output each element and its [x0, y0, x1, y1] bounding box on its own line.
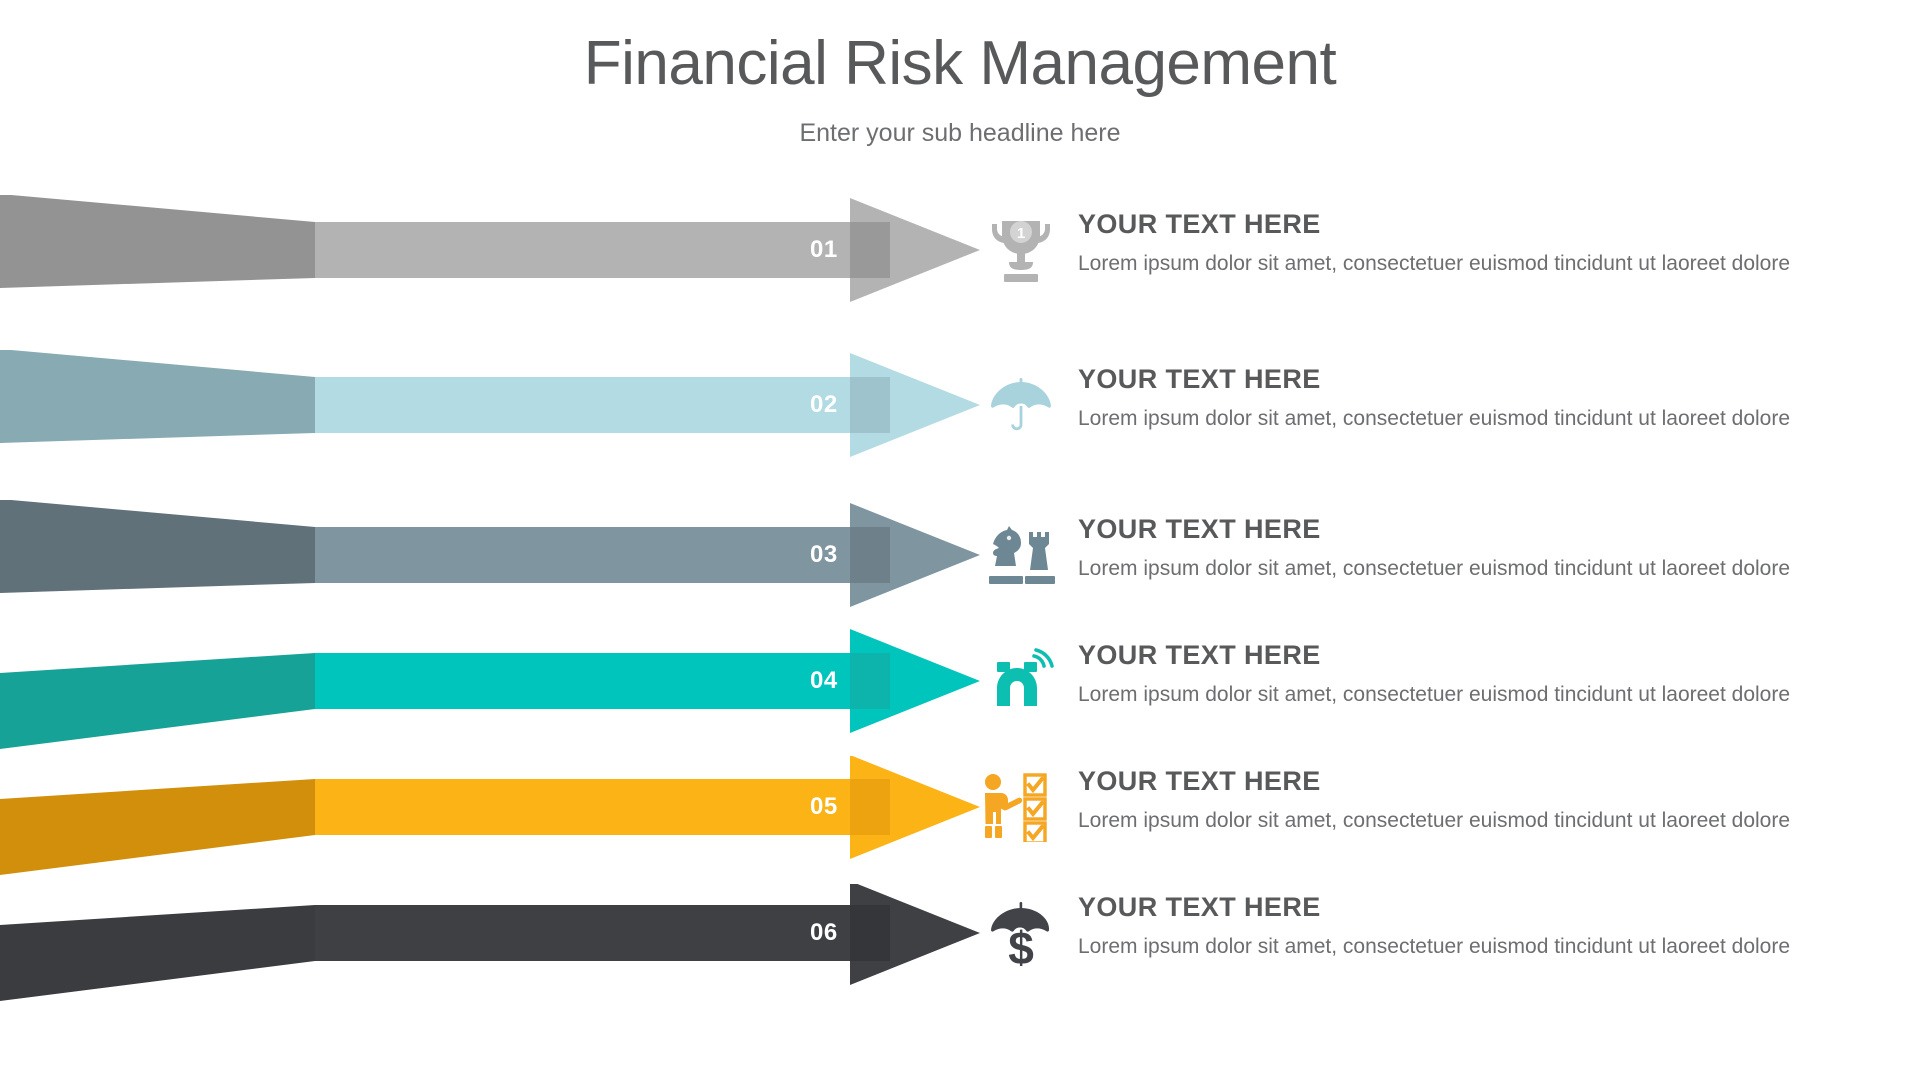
arrow-tail [0, 653, 315, 749]
arrow-graphic[interactable] [0, 884, 980, 1044]
arrow-bar [315, 653, 890, 709]
row-text: YOUR TEXT HERE Lorem ipsum dolor sit ame… [1078, 210, 1908, 276]
arrow-bar [315, 222, 890, 278]
item-title: YOUR TEXT HERE [1078, 365, 1908, 395]
arrow-bar [315, 905, 890, 961]
item-description: Lorem ipsum dolor sit amet, consectetuer… [1078, 934, 1908, 959]
arrow-bar [315, 377, 890, 433]
umbrella-icon [975, 359, 1067, 451]
item-title: YOUR TEXT HERE [1078, 767, 1908, 797]
item-description: Lorem ipsum dolor sit amet, consectetuer… [1078, 682, 1908, 707]
item-title: YOUR TEXT HERE [1078, 641, 1908, 671]
row-text: YOUR TEXT HERE Lorem ipsum dolor sit ame… [1078, 893, 1908, 959]
item-description: Lorem ipsum dolor sit amet, consectetuer… [1078, 406, 1908, 431]
step-number: 03 [810, 543, 838, 567]
item-description: Lorem ipsum dolor sit amet, consectetuer… [1078, 556, 1908, 581]
process-row[interactable]: 02 YOUR TEXT HERE Lorem ipsum dolor sit … [0, 350, 1920, 510]
step-number: 01 [810, 238, 838, 262]
process-row[interactable]: 06 $ YOUR TEXT HERE Lorem ipsum dolor si… [0, 884, 1920, 1044]
step-number: 05 [810, 795, 838, 819]
process-rows: 01 1 YOUR TEXT HERE Lorem ipsum dolor si… [0, 0, 1920, 1080]
row-text: YOUR TEXT HERE Lorem ipsum dolor sit ame… [1078, 767, 1908, 833]
arrow-tail [0, 779, 315, 875]
arrow-bar [315, 527, 890, 583]
item-title: YOUR TEXT HERE [1078, 515, 1908, 545]
arrow-graphic[interactable] [0, 350, 980, 510]
row-text: YOUR TEXT HERE Lorem ipsum dolor sit ame… [1078, 515, 1908, 581]
step-number: 06 [810, 921, 838, 945]
row-content: $ YOUR TEXT HERE Lorem ipsum dolor sit a… [975, 884, 1915, 1044]
svg-text:$: $ [1008, 922, 1034, 966]
arrow-head-shadow [850, 527, 890, 583]
arrow-head-shadow [850, 779, 890, 835]
arrow-tail [0, 195, 315, 288]
item-title: YOUR TEXT HERE [1078, 210, 1908, 240]
row-content: 1 YOUR TEXT HERE Lorem ipsum dolor sit a… [975, 195, 1915, 355]
svg-text:1: 1 [1017, 225, 1025, 242]
step-number: 04 [810, 669, 838, 693]
row-text: YOUR TEXT HERE Lorem ipsum dolor sit ame… [1078, 641, 1908, 707]
item-description: Lorem ipsum dolor sit amet, consectetuer… [1078, 808, 1908, 833]
item-description: Lorem ipsum dolor sit amet, consectetuer… [1078, 251, 1908, 276]
arrow-head-shadow [850, 905, 890, 961]
row-text: YOUR TEXT HERE Lorem ipsum dolor sit ame… [1078, 365, 1908, 431]
arrow-head-shadow [850, 222, 890, 278]
chess-pieces-icon [975, 509, 1067, 601]
magnet-icon [975, 635, 1067, 727]
arrow-head-shadow [850, 377, 890, 433]
process-row[interactable]: 01 1 YOUR TEXT HERE Lorem ipsum dolor si… [0, 195, 1920, 355]
step-number: 02 [810, 393, 838, 417]
trophy-icon: 1 [975, 204, 1067, 296]
arrow-tail [0, 500, 315, 593]
arrow-head-shadow [850, 653, 890, 709]
row-content: YOUR TEXT HERE Lorem ipsum dolor sit ame… [975, 350, 1915, 510]
item-title: YOUR TEXT HERE [1078, 893, 1908, 923]
arrow-tail [0, 905, 315, 1001]
umbrella-dollar-icon: $ [975, 887, 1067, 979]
checklist-person-icon [975, 761, 1067, 853]
arrow-tail [0, 350, 315, 443]
arrow-graphic[interactable] [0, 195, 980, 355]
arrow-bar [315, 779, 890, 835]
